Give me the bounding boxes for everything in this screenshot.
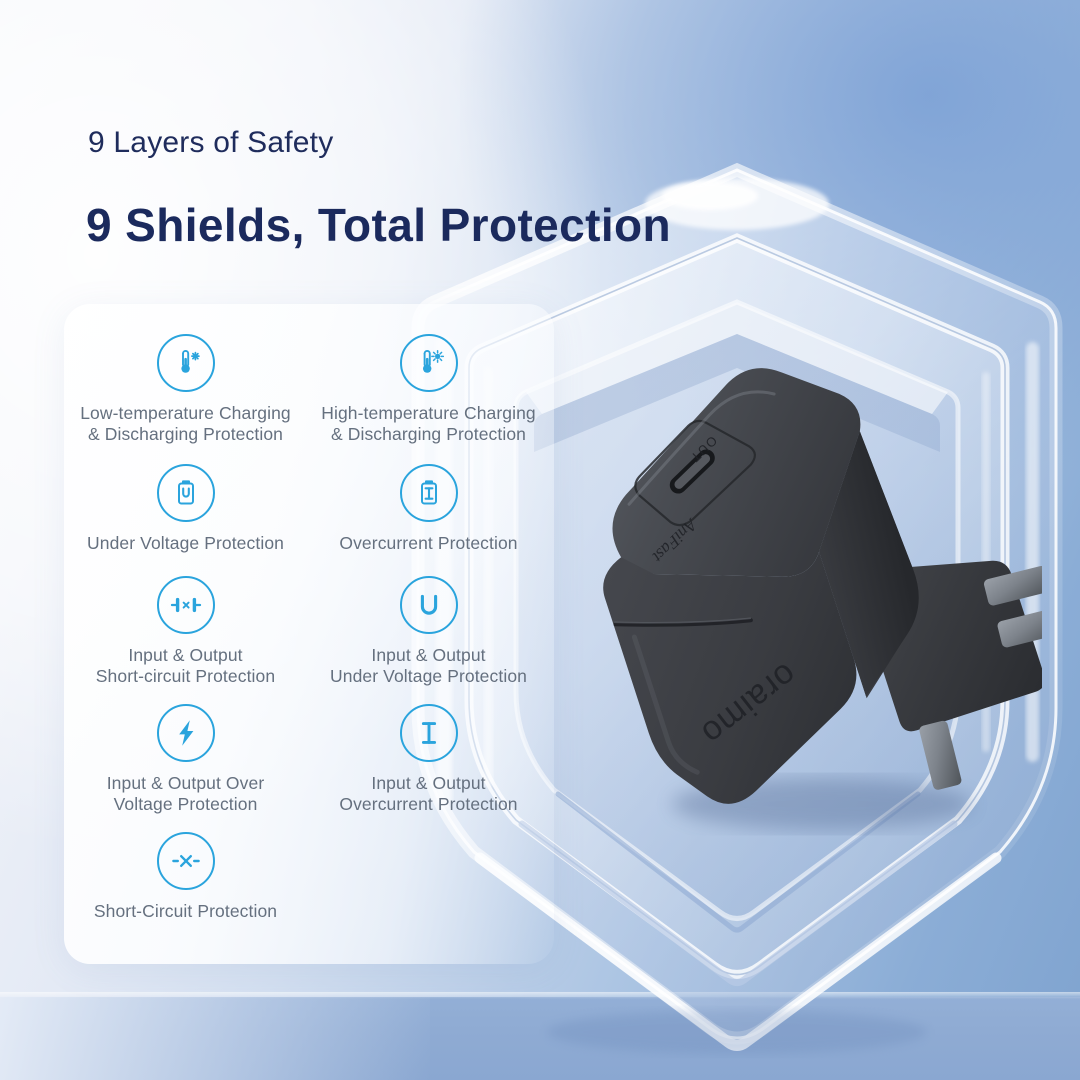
thermometer-snowflake-icon bbox=[157, 334, 215, 392]
feature-label: Input & Output Short-circuit Protection bbox=[96, 645, 275, 686]
battery-under-voltage-icon bbox=[157, 464, 215, 522]
feature-label: Under Voltage Protection bbox=[87, 533, 284, 554]
eyebrow-text: 9 Layers of Safety bbox=[88, 126, 333, 160]
letter-u-icon bbox=[400, 576, 458, 634]
feature-item-short-circuit: Short-Circuit Protection bbox=[64, 832, 307, 922]
battery-overcurrent-icon bbox=[400, 464, 458, 522]
feature-item-low-temperature: Low-temperature Charging & Discharging P… bbox=[64, 334, 307, 444]
dash-x-dash-icon bbox=[157, 832, 215, 890]
feature-label: Input & Output Over Voltage Protection bbox=[107, 773, 265, 814]
feature-item-io-overcurrent: Input & Output Overcurrent Protection bbox=[307, 704, 550, 814]
feature-label: High-temperature Charging & Discharging … bbox=[321, 403, 536, 444]
feature-label: Input & Output Under Voltage Protection bbox=[330, 645, 527, 686]
feature-label: Short-Circuit Protection bbox=[94, 901, 277, 922]
feature-label: Low-temperature Charging & Discharging P… bbox=[80, 403, 291, 444]
feature-item-high-temperature: High-temperature Charging & Discharging … bbox=[307, 334, 550, 444]
background-floor-left-fade bbox=[0, 997, 430, 1080]
feature-item-io-under-voltage: Input & Output Under Voltage Protection bbox=[307, 576, 550, 686]
feature-label: Input & Output Overcurrent Protection bbox=[339, 773, 517, 814]
thermometer-sun-icon bbox=[400, 334, 458, 392]
feature-item-under-voltage: Under Voltage Protection bbox=[64, 464, 307, 554]
feature-item-overcurrent: Overcurrent Protection bbox=[307, 464, 550, 554]
short-circuit-terminals-icon bbox=[157, 576, 215, 634]
feature-item-io-short-circuit: Input & Output Short-circuit Protection bbox=[64, 576, 307, 686]
product-charger-image: OUT AniFast oraimo bbox=[572, 352, 1042, 852]
product-marketing-image: OUT AniFast oraimo 9 Layers of Safety 9 … bbox=[0, 0, 1080, 1080]
feature-grid: Low-temperature Charging & Discharging P… bbox=[64, 304, 584, 964]
letter-i-icon bbox=[400, 704, 458, 762]
lightning-bolt-icon bbox=[157, 704, 215, 762]
feature-item-io-over-voltage: Input & Output Over Voltage Protection bbox=[64, 704, 307, 814]
feature-label: Overcurrent Protection bbox=[339, 533, 517, 554]
page-title: 9 Shields, Total Protection bbox=[86, 198, 671, 252]
